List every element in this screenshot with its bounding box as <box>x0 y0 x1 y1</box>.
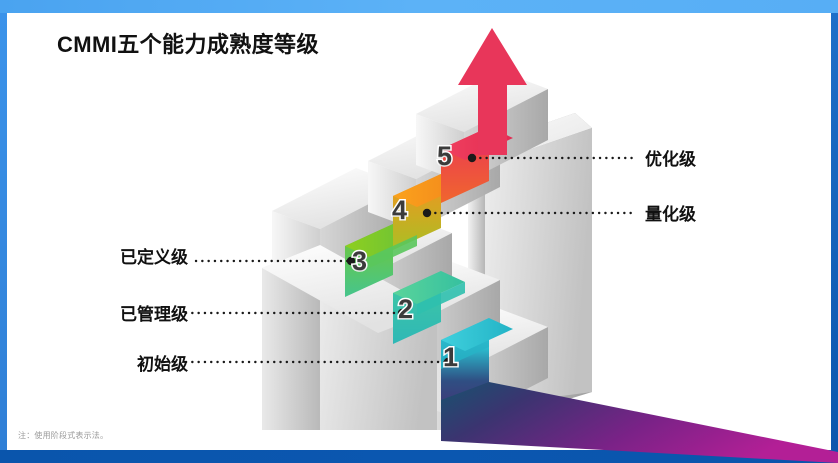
leader-dot-5 <box>468 154 476 162</box>
level-label-2: 已管理级 <box>38 300 188 325</box>
level-number-5: 5 <box>437 141 452 172</box>
cmmi-staircase-diagram <box>0 0 838 463</box>
footnote-text: 注：使用阶段式表示法。 <box>18 430 108 441</box>
level-label-4: 量化级 <box>645 200 815 225</box>
leader-dot-4 <box>423 209 431 217</box>
level-label-3: 已定义级 <box>38 243 188 268</box>
level-label-5: 优化级 <box>645 145 815 170</box>
level-label-1: 初始级 <box>38 350 188 375</box>
level-number-4: 4 <box>392 195 407 226</box>
level-number-2: 2 <box>398 294 413 325</box>
slide-canvas: 1 2 3 4 5 初始级 已管理级 已定义级 量化级 优化级 CMMI五个能力… <box>0 0 838 463</box>
page-title: CMMI五个能力成熟度等级 <box>57 27 319 59</box>
level-number-1: 1 <box>443 342 458 373</box>
level-number-3: 3 <box>352 246 367 277</box>
